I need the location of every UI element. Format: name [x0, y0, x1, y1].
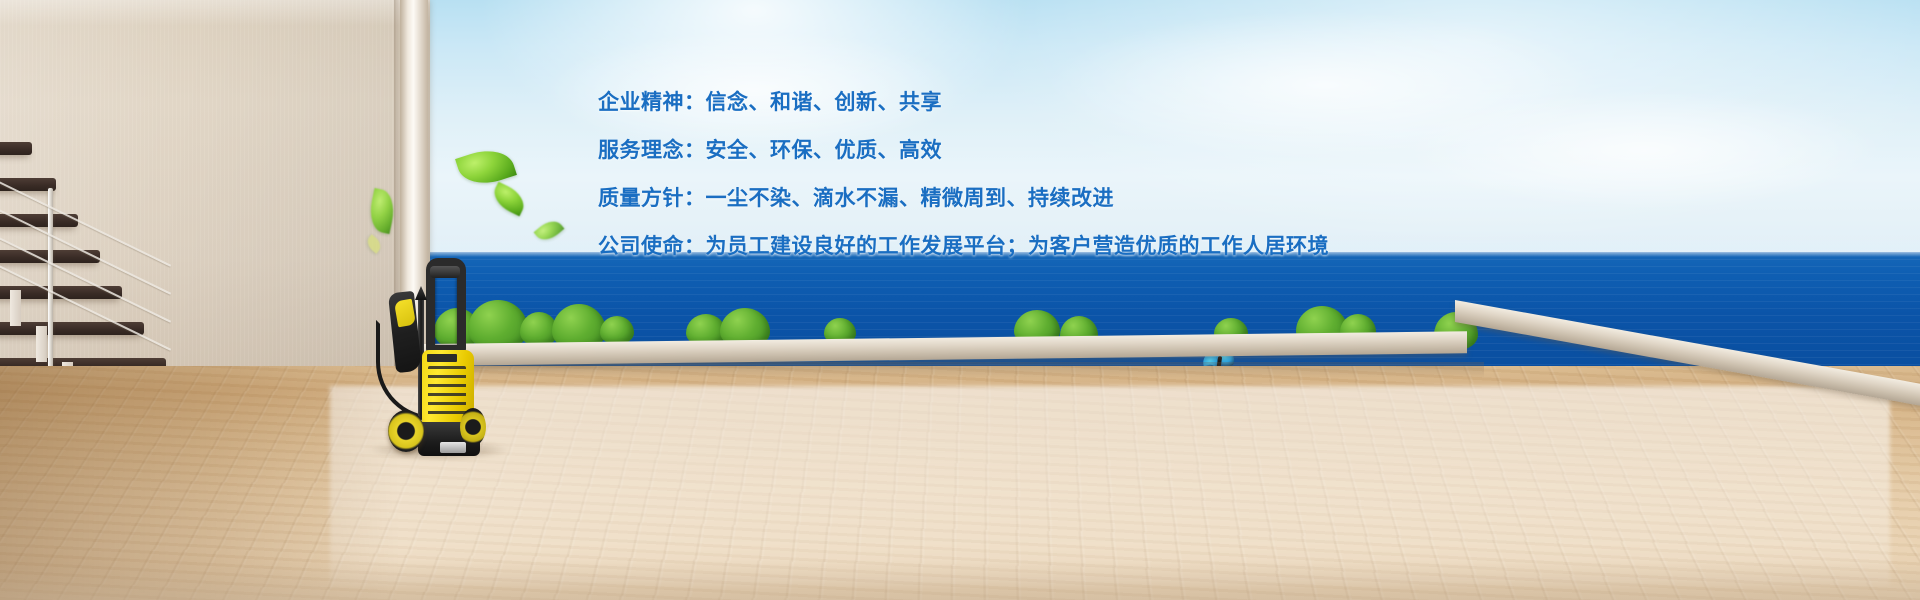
wall-top-light — [0, 0, 430, 26]
wood-floor — [0, 366, 1920, 600]
washer-handle-grip — [430, 266, 460, 278]
sill-shadow — [424, 362, 1484, 378]
stair-step — [0, 142, 32, 155]
stair-railing-cable — [0, 248, 171, 351]
philosophy-line-spirit: 企业精神：信念、和谐、创新、共享 — [598, 92, 1498, 113]
company-philosophy-text: 企业精神：信念、和谐、创新、共享 服务理念：安全、环保、优质、高效 质量方针：一… — [598, 92, 1498, 257]
philosophy-line-service: 服务理念：安全、环保、优质、高效 — [598, 140, 1498, 161]
stair-step — [0, 322, 144, 335]
pressure-washer — [382, 258, 504, 456]
tree — [600, 316, 634, 344]
stair-support — [10, 290, 21, 326]
hero-banner: 企业精神：信念、和谐、创新、共享 服务理念：安全、环保、优质、高效 质量方针：一… — [0, 0, 1920, 600]
philosophy-line-mission: 公司使命：为员工建设良好的工作发展平台；为客户营造优质的工作人居环境 — [598, 236, 1498, 257]
washer-vents — [428, 366, 466, 418]
washer-wheel-right — [460, 408, 486, 446]
washer-wheel-left — [388, 410, 424, 452]
washer-brand-label — [427, 354, 457, 362]
floor-bottom-band — [0, 560, 1920, 600]
philosophy-line-quality: 质量方针：一尘不染、滴水不漏、精微周到、持续改进 — [598, 188, 1498, 209]
washer-base-plate — [440, 442, 466, 453]
stair-support — [36, 326, 47, 362]
floor-reflection-glare — [330, 386, 1890, 586]
